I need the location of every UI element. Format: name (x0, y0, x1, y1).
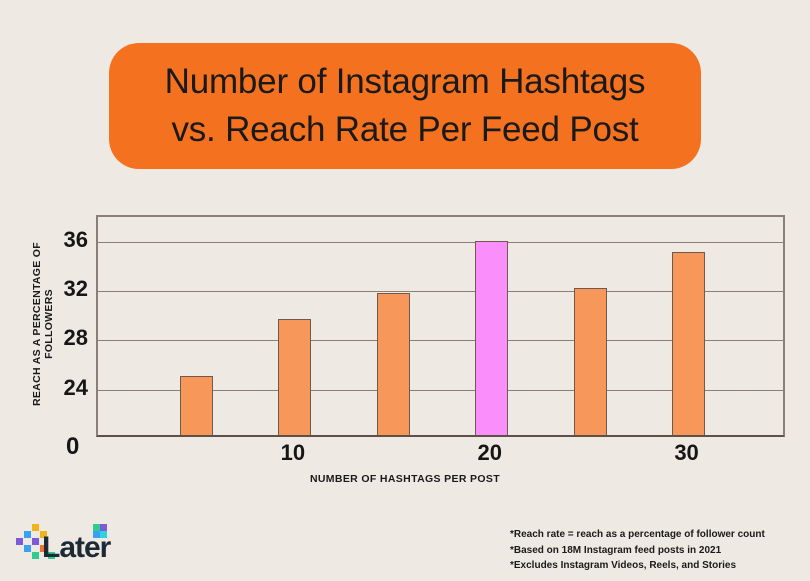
y-axis-ticks: 24283236 (20, 215, 88, 437)
x-axis-tick-label: 30 (674, 440, 698, 466)
logo-pixel (24, 531, 31, 538)
logo-pixel (16, 538, 23, 545)
x-axis-tick-label: 10 (281, 440, 305, 466)
logo-pixel (32, 524, 39, 531)
footnote-line: *Excludes Instagram Videos, Reels, and S… (510, 558, 765, 574)
logo-pixel (24, 545, 31, 552)
x-axis-title: NUMBER OF HASHTAGS PER POST (0, 473, 810, 485)
bar (377, 293, 410, 435)
y-axis-tick-label: 24 (28, 375, 88, 401)
y-axis-origin-label: 0 (66, 433, 79, 461)
footnote-line: *Based on 18M Instagram feed posts in 20… (510, 543, 765, 559)
y-axis-tick-label: 28 (28, 325, 88, 351)
y-axis-tick-label: 36 (28, 227, 88, 253)
logo-wordmark: Later (42, 533, 110, 563)
x-axis-tick-label: 20 (477, 440, 501, 466)
logo-pixel (93, 524, 100, 531)
footnotes: *Reach rate = reach as a percentage of f… (510, 527, 765, 574)
bar (278, 319, 311, 435)
logo-pixel (32, 552, 39, 559)
y-axis-tick-label: 32 (28, 276, 88, 302)
bar (574, 288, 607, 435)
later-logo: Later (16, 524, 126, 570)
plot-area (96, 215, 785, 437)
bar-chart: REACH AS A PERCENTAGE OF FOLLOWERS 24283… (0, 0, 810, 581)
bar (672, 252, 705, 435)
bar (475, 241, 508, 435)
infographic-canvas: Number of Instagram Hashtags vs. Reach R… (0, 0, 810, 581)
gridline (98, 242, 783, 243)
logo-pixel (100, 524, 107, 531)
footnote-line: *Reach rate = reach as a percentage of f… (510, 527, 765, 543)
logo-pixel (32, 538, 39, 545)
bar (180, 376, 213, 435)
